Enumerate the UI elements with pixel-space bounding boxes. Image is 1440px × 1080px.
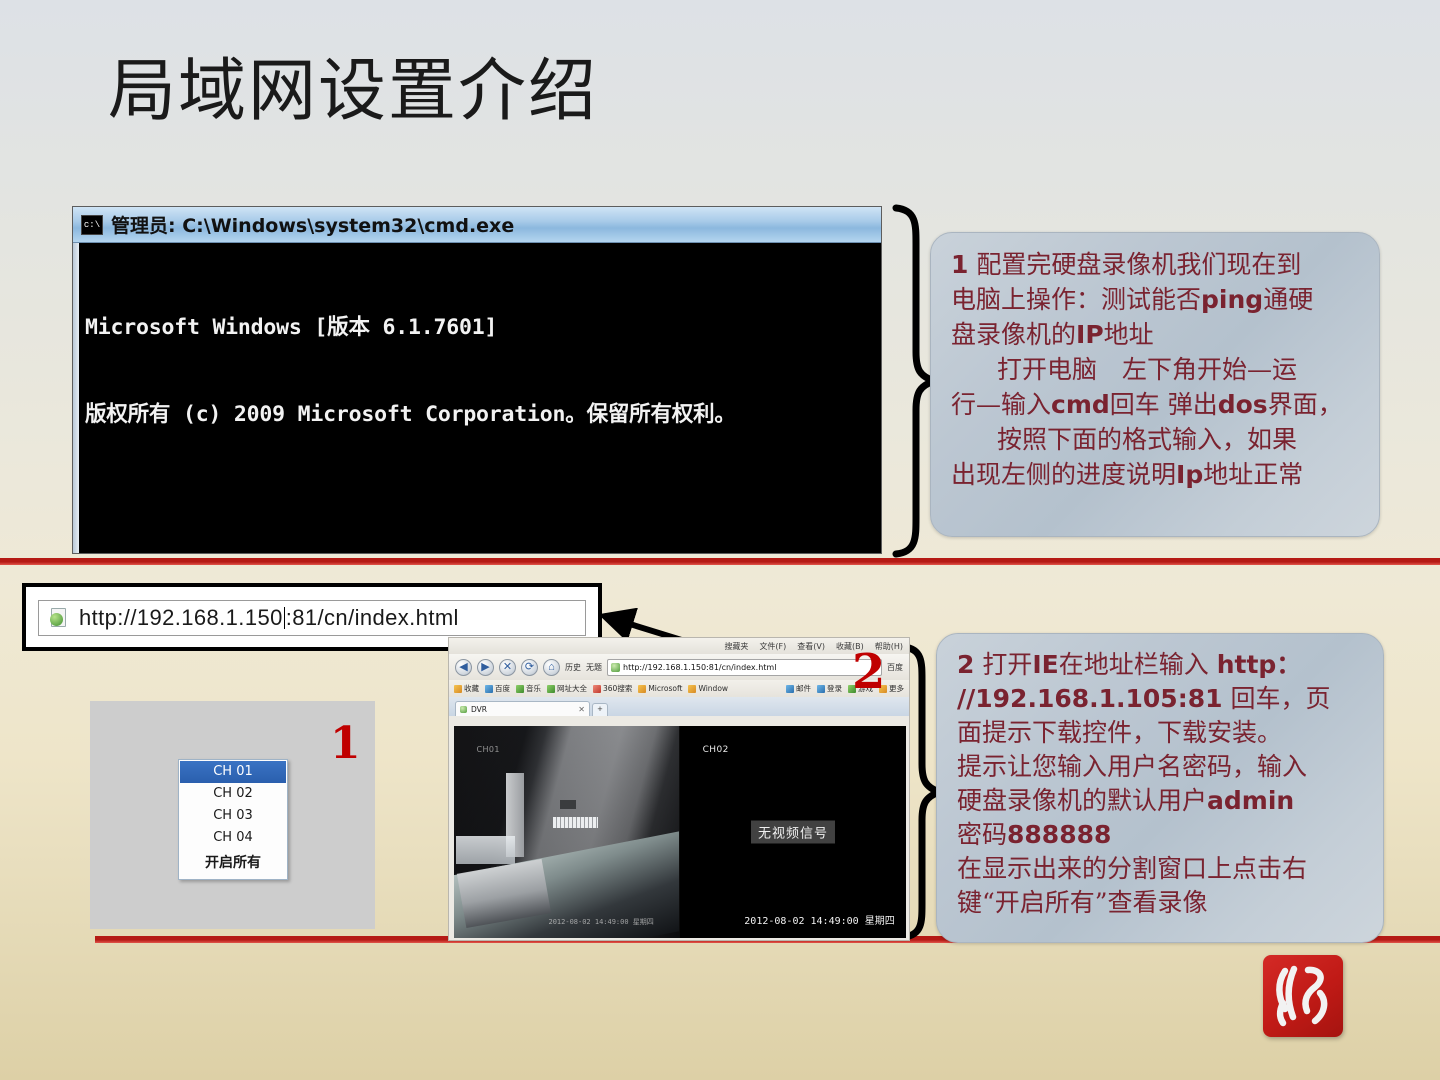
menu-item-ch01[interactable]: CH 01 bbox=[180, 761, 286, 783]
page-title: 局域网设置介绍 bbox=[108, 58, 598, 126]
back-button[interactable]: ◀ bbox=[455, 659, 472, 676]
menu-item-open-all[interactable]: 开启所有 bbox=[180, 849, 286, 878]
callout1-number: 1 bbox=[951, 250, 968, 279]
history-button[interactable]: 历史 bbox=[565, 662, 581, 673]
callout1-line-2: 电脑上操作：测试能否ping通硬 bbox=[951, 282, 1363, 317]
stop-button[interactable]: ✕ bbox=[499, 659, 516, 676]
menu-item-ch04[interactable]: CH 04 bbox=[180, 827, 286, 849]
bookmark-favorites[interactable]: 收藏 bbox=[454, 683, 479, 694]
logo-glyph-icon bbox=[1263, 955, 1343, 1037]
bookmark-music[interactable]: 音乐 bbox=[516, 683, 541, 694]
company-logo bbox=[1263, 955, 1343, 1037]
cmd-titlebar: c:\ 管理员: C:\Windows\system32\cmd.exe bbox=[73, 207, 881, 243]
cmd-window: c:\ 管理员: C:\Windows\system32\cmd.exe Mic… bbox=[72, 206, 882, 554]
callout-step-2: 2 打开IE在地址栏输入 http： //192.168.1.105:81 回车… bbox=[936, 633, 1384, 943]
page-globe-icon bbox=[49, 608, 69, 628]
step-number-1: 1 bbox=[330, 718, 361, 769]
browser-tabstrip: DVR ✕ + bbox=[449, 697, 909, 716]
tab-title: DVR bbox=[471, 705, 487, 714]
browser-bookmarks-bar: 收藏 百度 音乐 网址大全 360搜索 Microsoft Window 邮件 … bbox=[449, 680, 909, 697]
callout2-line-3: 面提示下载控件，下载安装。 bbox=[957, 716, 1367, 750]
cmd-line: 版权所有 (c) 2009 Microsoft Corporation。保留所有… bbox=[85, 400, 875, 429]
callout2-line-8: 键“开启所有”查看录像 bbox=[957, 886, 1367, 920]
favorites-button[interactable]: 无题 bbox=[586, 662, 602, 673]
no-video-signal-badge: 无视频信号 bbox=[751, 821, 835, 844]
cmd-title-text: 管理员: C:\Windows\system32\cmd.exe bbox=[111, 211, 514, 238]
step-number-2: 2 bbox=[852, 644, 885, 700]
cmd-line: Microsoft Windows [版本 6.1.7601] bbox=[85, 313, 875, 342]
callout2-number: 2 bbox=[957, 650, 974, 679]
home-button[interactable]: ⌂ bbox=[543, 659, 560, 676]
callout2-line-2: //192.168.1.105:81 回车，页 bbox=[957, 682, 1367, 716]
menu-item-ch03[interactable]: CH 03 bbox=[180, 805, 286, 827]
browser-screenshot: 搜藏夹 文件(F) 查看(V) 收藏(B) 帮助(H) ◀ ▶ ✕ ⟳ ⌂ 历史… bbox=[448, 637, 910, 941]
browser-tab-dvr[interactable]: DVR ✕ bbox=[455, 701, 590, 716]
callout2-line-1: 2 打开IE在地址栏输入 http： bbox=[957, 648, 1367, 682]
text-caret bbox=[284, 607, 285, 629]
bookmark-baidu[interactable]: 百度 bbox=[485, 683, 510, 694]
callout1-line-6: 按照下面的格式输入，如果 bbox=[951, 422, 1363, 457]
video-pane-ch02[interactable]: CH02 无视频信号 2012-08-02 14:49:00 星期四 bbox=[680, 726, 906, 938]
search-button[interactable]: 百度 bbox=[887, 662, 903, 673]
video-timestamp: 2012-08-02 14:49:00 星期四 bbox=[549, 917, 654, 927]
cmd-line-blank bbox=[85, 487, 875, 516]
video-channel-label: CH02 bbox=[703, 745, 729, 755]
page-globe-icon bbox=[611, 663, 620, 672]
url-part-path: :81/cn/index.html bbox=[286, 605, 459, 630]
browser-toolbar: ◀ ▶ ✕ ⟳ ⌂ 历史 无题 http://192.168.1.150:81/… bbox=[449, 654, 909, 680]
cmd-scrollbar-edge bbox=[73, 243, 79, 554]
browser-url-text: http://192.168.1.150:81/cn/index.html bbox=[623, 663, 776, 672]
bookmark-mail[interactable]: 邮件 bbox=[786, 683, 811, 694]
bookmark-360search[interactable]: 360搜索 bbox=[593, 683, 632, 694]
channel-context-menu[interactable]: CH 01 CH 02 CH 03 CH 04 开启所有 bbox=[178, 759, 288, 880]
menubar-item-file[interactable]: 文件(F) bbox=[759, 641, 786, 652]
video-channel-label: CH01 bbox=[477, 745, 500, 754]
menubar-item-favorites[interactable]: 搜藏夹 bbox=[724, 641, 748, 652]
video-timestamp: 2012-08-02 14:49:00 星期四 bbox=[744, 912, 894, 927]
dvr-video-grid: CH01 2012-08-02 14:49:00 星期四 CH02 无视频信号 … bbox=[454, 726, 906, 938]
cmd-icon: c:\ bbox=[81, 215, 103, 235]
bookmark-sites[interactable]: 网址大全 bbox=[547, 683, 587, 694]
bookmark-microsoft[interactable]: Microsoft bbox=[638, 684, 682, 693]
address-url-text: http://192.168.1.150:81/cn/index.html bbox=[79, 605, 459, 631]
callout-step-1: 1 配置完硬盘录像机我们现在到 电脑上操作：测试能否ping通硬 盘录像机的IP… bbox=[930, 232, 1380, 537]
menu-item-ch02[interactable]: CH 02 bbox=[180, 783, 286, 805]
callout2-line-4: 提示让您输入用户名密码，输入 bbox=[957, 750, 1367, 784]
refresh-button[interactable]: ⟳ bbox=[521, 659, 538, 676]
callout1-line-4: 打开电脑 左下角开始—运 bbox=[951, 352, 1363, 387]
new-tab-button[interactable]: + bbox=[592, 703, 608, 716]
bookmark-login[interactable]: 登录 bbox=[817, 683, 842, 694]
browser-address-input[interactable]: http://192.168.1.150:81/cn/index.html bbox=[607, 659, 882, 676]
menubar-item-view[interactable]: 查看(V) bbox=[797, 641, 825, 652]
callout1-line-7: 出现左侧的进度说明Ip地址正常 bbox=[951, 457, 1363, 492]
callout2-line-6: 密码888888 bbox=[957, 818, 1367, 852]
callout2-line-5: 硬盘录像机的默认用户admin bbox=[957, 784, 1367, 818]
bookmark-window[interactable]: Window bbox=[688, 684, 728, 693]
address-input[interactable]: http://192.168.1.150:81/cn/index.html bbox=[38, 600, 586, 636]
callout1-line-3: 盘录像机的IP地址 bbox=[951, 317, 1363, 352]
callout1-line-1: 1 配置完硬盘录像机我们现在到 bbox=[951, 247, 1363, 282]
cmd-console-output: Microsoft Windows [版本 6.1.7601] 版权所有 (c)… bbox=[73, 243, 881, 554]
page-globe-icon bbox=[460, 706, 467, 713]
url-part-host: http://192.168.1.150 bbox=[79, 605, 283, 630]
forward-button[interactable]: ▶ bbox=[477, 659, 494, 676]
callout2-line-7: 在显示出来的分割窗口上点击右 bbox=[957, 852, 1367, 886]
divider-top bbox=[0, 558, 1440, 565]
browser-menubar: 搜藏夹 文件(F) 查看(V) 收藏(B) 帮助(H) bbox=[449, 638, 909, 654]
close-icon[interactable]: ✕ bbox=[578, 705, 585, 714]
callout1-line-5: 行—输入cmd回车 弹出dos界面， bbox=[951, 387, 1363, 422]
video-pane-ch01[interactable]: CH01 2012-08-02 14:49:00 星期四 bbox=[454, 726, 680, 938]
